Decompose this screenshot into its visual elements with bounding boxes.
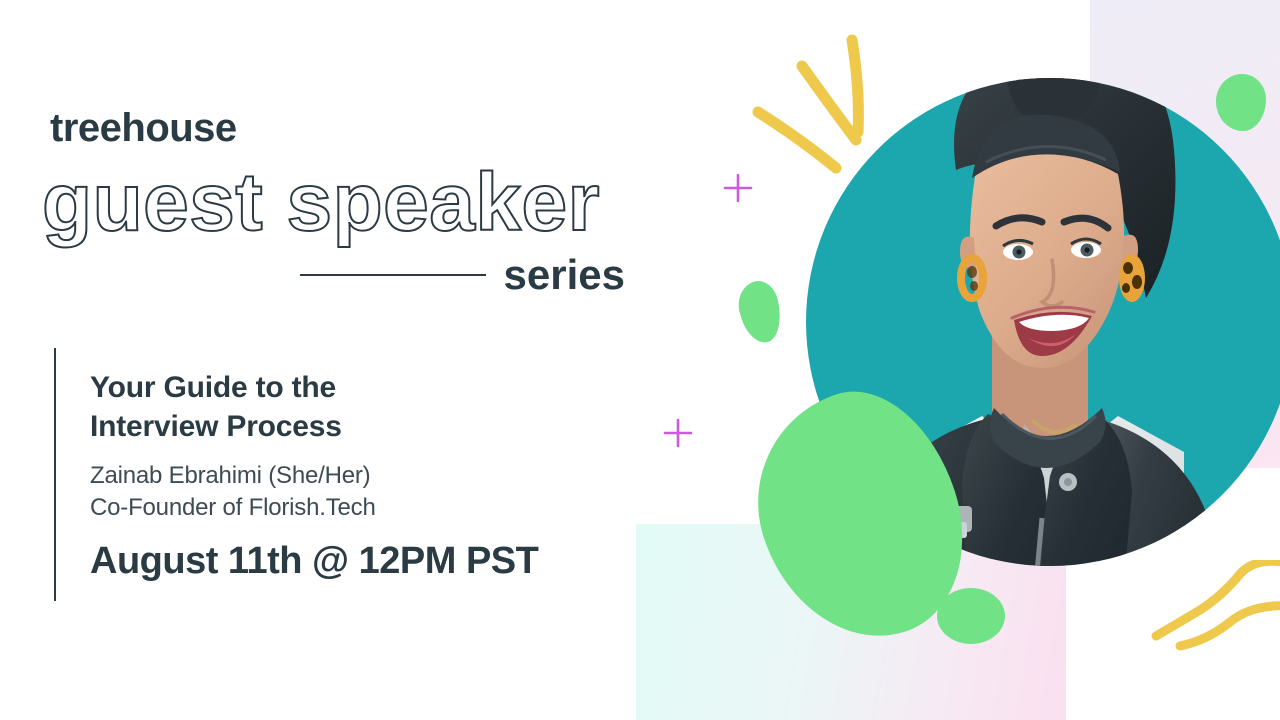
green-blob-small-icon [734, 278, 786, 347]
series-headline: guest speaker [42, 160, 600, 246]
series-divider-rule [300, 274, 486, 276]
yellow-sparkle-burst-icon [740, 20, 910, 200]
magenta-plus-middle-icon [662, 417, 694, 449]
vertical-accent-rule [54, 348, 56, 601]
speaker-role: Co-Founder of Florish.Tech [90, 492, 630, 524]
green-blob-round-icon [937, 588, 1005, 644]
series-row: series [300, 254, 625, 296]
event-datetime: August 11th @ 12PM PST [90, 541, 630, 583]
series-label: series [504, 254, 625, 296]
speaker-name: Zainab Ebrahimi (She/Her) [90, 460, 630, 492]
brand-name: treehouse [50, 108, 237, 148]
talk-info-block: Your Guide to the Interview Process Zain… [90, 368, 630, 583]
yellow-squiggle-lines-icon [1150, 560, 1280, 690]
magenta-plus-top-icon [722, 172, 754, 204]
promo-graphic: treehouse guest speaker series Your Guid… [0, 0, 1280, 720]
talk-title: Your Guide to the Interview Process [90, 368, 630, 446]
